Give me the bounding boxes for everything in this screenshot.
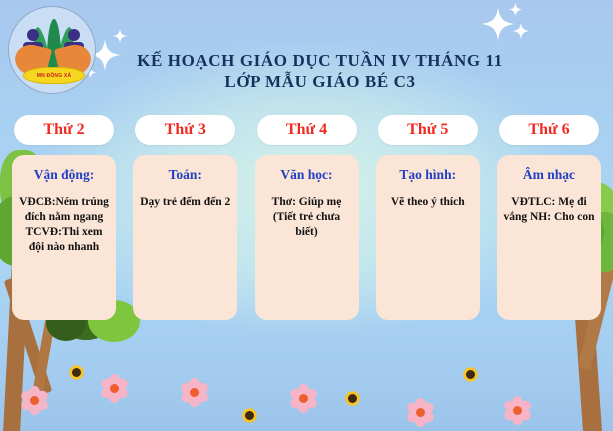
logo-banner-text: MN ĐỒNG XÁ: [37, 73, 72, 79]
school-logo: MN ĐỒNG XÁ: [8, 6, 96, 94]
lesson-detail: Dạy trẻ đếm đến 2: [139, 195, 231, 210]
weekly-schedule-grid: Thứ 2 Vận động: VĐCB:Ném trúng đích nằm …: [0, 115, 613, 320]
day-header-thu-5[interactable]: Thứ 5: [378, 115, 478, 145]
title-line-1: KẾ HOẠCH GIÁO DỤC TUẦN IV THÁNG 11: [137, 51, 503, 70]
lesson-subject: Vận động:: [18, 167, 110, 183]
day-header-thu-2[interactable]: Thứ 2: [14, 115, 114, 145]
lesson-card-thu-3[interactable]: Toán: Dạy trẻ đếm đến 2: [133, 155, 237, 320]
lesson-detail: Vẽ theo ý thích: [382, 195, 474, 210]
lesson-card-thu-2[interactable]: Vận động: VĐCB:Ném trúng đích nằm ngang …: [12, 155, 116, 320]
sparkle-topright-mid-icon: [512, 22, 530, 40]
lesson-detail: Thơ: Giúp mẹ (Tiết trẻ chưa biết): [261, 195, 353, 240]
day-column-thu-5: Thứ 5 Tạo hình: Vẽ theo ý thích: [376, 115, 480, 320]
lesson-subject: Tạo hình:: [382, 167, 474, 183]
page-title: KẾ HOẠCH GIÁO DỤC TUẦN IV THÁNG 11 LỚP M…: [100, 50, 540, 93]
logo-child-head: [68, 29, 80, 41]
day-column-thu-4: Thứ 4 Văn học: Thơ: Giúp mẹ (Tiết trẻ ch…: [255, 115, 359, 320]
lesson-card-thu-5[interactable]: Tạo hình: Vẽ theo ý thích: [376, 155, 480, 320]
day-header-thu-6[interactable]: Thứ 6: [499, 115, 599, 145]
sparkle-small-icon: [112, 28, 128, 44]
day-column-thu-2: Thứ 2 Vận động: VĐCB:Ném trúng đích nằm …: [12, 115, 116, 320]
logo-banner: MN ĐỒNG XÁ: [23, 67, 85, 84]
logo-child-head: [27, 29, 39, 41]
education-plan-poster: MN ĐỒNG XÁ KẾ HOẠCH GIÁO DỤC TUẦN IV THÁ…: [0, 0, 613, 431]
day-column-thu-6: Thứ 6 Âm nhạc VĐTLC: Mẹ đi vắng NH: Cho …: [497, 115, 601, 320]
lesson-detail: VĐTLC: Mẹ đi vắng NH: Cho con: [503, 195, 595, 225]
lesson-detail: VĐCB:Ném trúng đích nằm ngang TCVĐ:Thi x…: [18, 195, 110, 255]
sparkle-topright-small-icon: [508, 2, 523, 17]
logo-circle: MN ĐỒNG XÁ: [8, 6, 96, 94]
title-line-2: LỚP MẪU GIÁO BÉ C3: [100, 71, 540, 92]
lesson-card-thu-4[interactable]: Văn học: Thơ: Giúp mẹ (Tiết trẻ chưa biế…: [255, 155, 359, 320]
lesson-card-thu-6[interactable]: Âm nhạc VĐTLC: Mẹ đi vắng NH: Cho con: [497, 155, 601, 320]
day-column-thu-3: Thứ 3 Toán: Dạy trẻ đếm đến 2: [133, 115, 237, 320]
lesson-subject: Văn học:: [261, 167, 353, 183]
day-header-thu-3[interactable]: Thứ 3: [135, 115, 235, 145]
lesson-subject: Toán:: [139, 167, 231, 183]
sparkle-topright-icon: [480, 6, 516, 42]
day-header-thu-4[interactable]: Thứ 4: [257, 115, 357, 145]
lesson-subject: Âm nhạc: [503, 167, 595, 183]
